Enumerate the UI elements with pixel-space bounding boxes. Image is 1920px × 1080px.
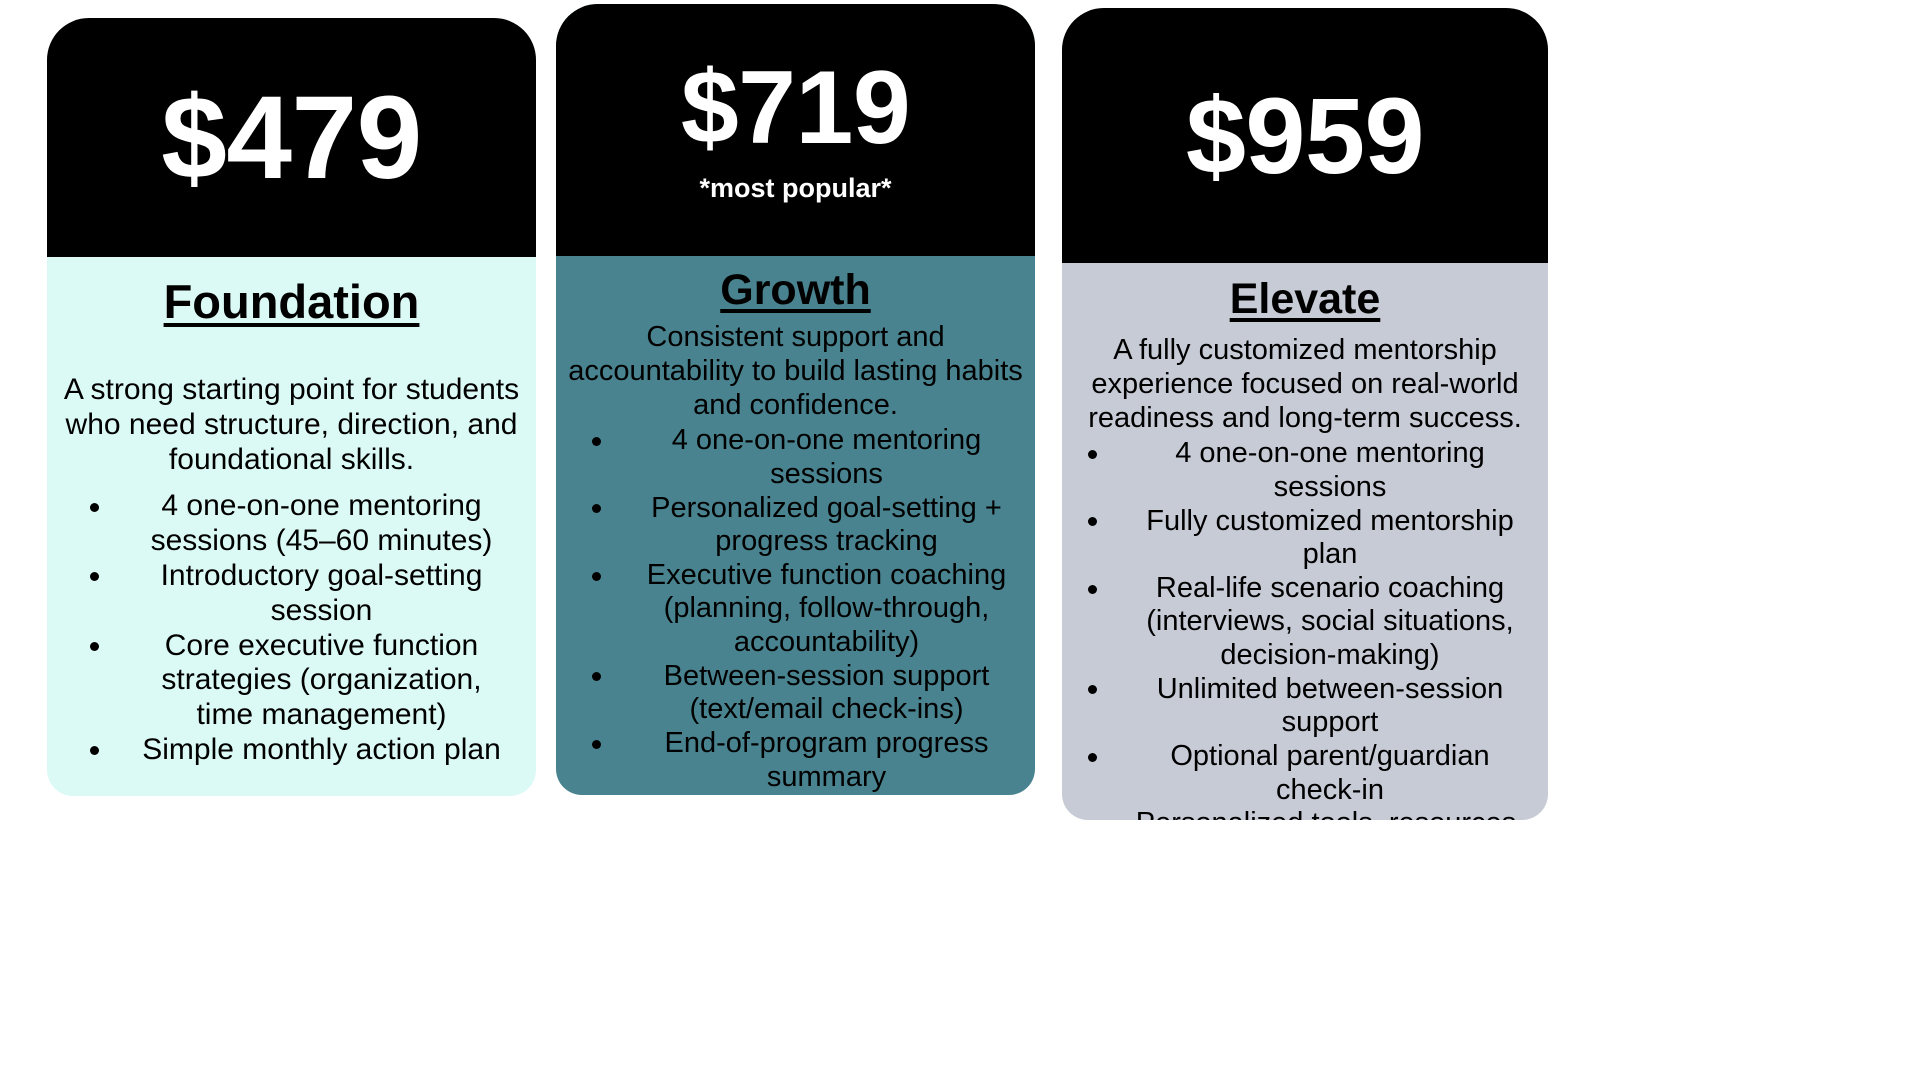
feature-text: Personalized tools, resources, and strat… bbox=[1136, 807, 1524, 820]
feature-item: Core executive function strategies (orga… bbox=[90, 629, 507, 733]
feature-text: Optional parent/guardian check-in bbox=[1170, 740, 1489, 806]
price-header-foundation: $479 bbox=[47, 18, 536, 257]
card-body-foundation: Foundation A strong starting point for s… bbox=[47, 257, 536, 796]
bullet-icon bbox=[592, 504, 601, 513]
most-popular-badge: *most popular* bbox=[699, 174, 891, 204]
feature-item: Personalized goal-setting + progress tra… bbox=[592, 492, 1015, 559]
price-header-elevate: $959 bbox=[1062, 8, 1548, 263]
feature-text: 4 one-on-one mentoring sessions (45–60 m… bbox=[151, 489, 493, 557]
tier-description-growth: Consistent support and accountability to… bbox=[562, 321, 1029, 422]
bullet-icon bbox=[90, 503, 99, 512]
feature-text: Simple monthly action plan bbox=[142, 733, 501, 766]
bullet-icon bbox=[1088, 685, 1097, 694]
feature-text: Personalized goal-setting + progress tra… bbox=[651, 492, 1002, 558]
feature-text: 4 one-on-one mentoring sessions bbox=[1175, 437, 1485, 503]
feature-item: 4 one-on-one mentoring sessions bbox=[592, 424, 1015, 491]
bullet-icon bbox=[1088, 753, 1097, 762]
price-amount-growth: $719 bbox=[681, 56, 910, 160]
price-header-growth: $719 *most popular* bbox=[556, 4, 1035, 256]
bullet-icon bbox=[592, 740, 601, 749]
bullet-icon bbox=[90, 642, 99, 651]
feature-text: Unlimited between-session support bbox=[1157, 673, 1504, 739]
feature-item: Unlimited between-session support bbox=[1088, 673, 1534, 740]
price-amount-foundation: $479 bbox=[161, 79, 422, 197]
feature-list-foundation: 4 one-on-one mentoring sessions (45–60 m… bbox=[56, 489, 527, 767]
price-amount-elevate: $959 bbox=[1186, 82, 1424, 190]
tier-name-foundation: Foundation bbox=[56, 275, 527, 329]
bullet-icon bbox=[592, 672, 601, 681]
feature-text: End-of-program progress summary bbox=[665, 727, 989, 793]
feature-text: Core executive function strategies (orga… bbox=[161, 629, 481, 732]
tier-name-elevate: Elevate bbox=[1068, 275, 1542, 324]
feature-item: Simple monthly action plan bbox=[90, 733, 507, 768]
feature-item: 4 one-on-one mentoring sessions (45–60 m… bbox=[90, 489, 507, 559]
tier-description-elevate: A fully customized mentorship experience… bbox=[1068, 334, 1542, 435]
feature-item: 4 one-on-one mentoring sessions bbox=[1088, 437, 1534, 504]
feature-text: Executive function coaching (planning, f… bbox=[647, 559, 1007, 658]
feature-text: Real-life scenario coaching (interviews,… bbox=[1146, 572, 1513, 671]
feature-list-growth: 4 one-on-one mentoring sessions Personal… bbox=[562, 424, 1029, 794]
pricing-card-foundation[interactable]: $479 Foundation A strong starting point … bbox=[47, 18, 536, 796]
feature-text: Introductory goal-setting session bbox=[161, 559, 483, 627]
feature-item: Fully customized mentorship plan bbox=[1088, 505, 1534, 572]
bullet-icon bbox=[592, 572, 601, 581]
pricing-card-elevate[interactable]: $959 Elevate A fully customized mentorsh… bbox=[1062, 8, 1548, 820]
feature-item: Between-session support (text/email chec… bbox=[592, 660, 1015, 727]
feature-item: Personalized tools, resources, and strat… bbox=[1088, 807, 1534, 820]
tier-name-growth: Growth bbox=[562, 266, 1029, 315]
feature-item: Real-life scenario coaching (interviews,… bbox=[1088, 572, 1534, 673]
feature-text: Fully customized mentorship plan bbox=[1146, 505, 1513, 571]
feature-item: Introductory goal-setting session bbox=[90, 559, 507, 629]
feature-item: Optional parent/guardian check-in bbox=[1088, 740, 1534, 807]
bullet-icon bbox=[1088, 517, 1097, 526]
bullet-icon bbox=[90, 746, 99, 755]
feature-item: End-of-program progress summary bbox=[592, 727, 1015, 794]
tier-description-foundation: A strong starting point for students who… bbox=[56, 373, 527, 477]
pricing-board: $479 Foundation A strong starting point … bbox=[0, 0, 1920, 1080]
feature-item: Executive function coaching (planning, f… bbox=[592, 559, 1015, 660]
bullet-icon bbox=[592, 437, 601, 446]
card-body-growth: Growth Consistent support and accountabi… bbox=[556, 256, 1035, 795]
feature-text: 4 one-on-one mentoring sessions bbox=[672, 424, 982, 490]
feature-list-elevate: 4 one-on-one mentoring sessions Fully cu… bbox=[1068, 437, 1542, 820]
bullet-icon bbox=[1088, 450, 1097, 459]
bullet-icon bbox=[90, 572, 99, 581]
card-body-elevate: Elevate A fully customized mentorship ex… bbox=[1062, 263, 1548, 820]
pricing-card-growth[interactable]: $719 *most popular* Growth Consistent su… bbox=[556, 4, 1035, 795]
feature-text: Between-session support (text/email chec… bbox=[664, 660, 990, 726]
bullet-icon bbox=[1088, 585, 1097, 594]
